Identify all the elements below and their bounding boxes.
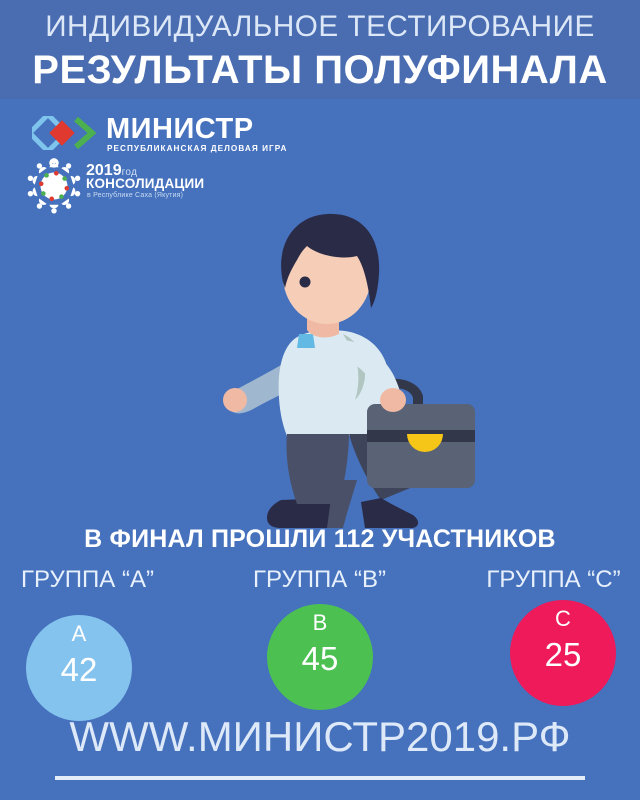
site-url[interactable]: WWW.МИНИСТР2019.РФ: [0, 710, 640, 764]
year-theme: КОНСОЛИДАЦИИ: [86, 177, 204, 191]
group-label-a: ГРУППА “A”: [0, 566, 175, 594]
group-letter-a: A: [26, 621, 132, 647]
group-count-c: 25: [510, 636, 616, 674]
logo-block: МИНИСТР РЕСПУБЛИКАНСКАЯ ДЕЛОВАЯ ИГРА: [22, 112, 272, 212]
year-place: в Республике Саха (Якутия): [87, 192, 183, 200]
ministr-diamond-icon: [32, 116, 98, 150]
ministr-wordmark: МИНИСТР: [106, 114, 254, 144]
poster-canvas: ИНДИВИДУАЛЬНОЕ ТЕСТИРОВАНИЕ РЕЗУЛЬТАТЫ П…: [0, 0, 640, 800]
group-bubble-c: C 25: [510, 600, 616, 706]
site-url-underline: [55, 776, 585, 780]
group-letter-b: B: [267, 610, 373, 636]
group-bubble-b: B 45: [267, 604, 373, 710]
group-label-b: ГРУППА “B”: [232, 566, 407, 594]
businessman-illustration: [215, 198, 485, 528]
group-letter-c: C: [510, 606, 616, 632]
page-title: РЕЗУЛЬТАТЫ ПОЛУФИНАЛА: [0, 46, 640, 94]
ministr-tagline: РЕСПУБЛИКАНСКАЯ ДЕЛОВАЯ ИГРА: [107, 144, 288, 154]
finalists-summary: В ФИНАЛ ПРОШЛИ 112 УЧАСТНИКОВ: [0, 524, 640, 554]
group-bubble-a: A 42: [26, 615, 132, 721]
group-label-c: ГРУППА “C”: [466, 566, 640, 594]
group-count-a: 42: [26, 651, 132, 689]
consolidation-emblem-icon: [24, 156, 84, 216]
header-subtitle: ИНДИВИДУАЛЬНОЕ ТЕСТИРОВАНИЕ: [3, 6, 637, 48]
group-count-b: 45: [267, 640, 373, 678]
